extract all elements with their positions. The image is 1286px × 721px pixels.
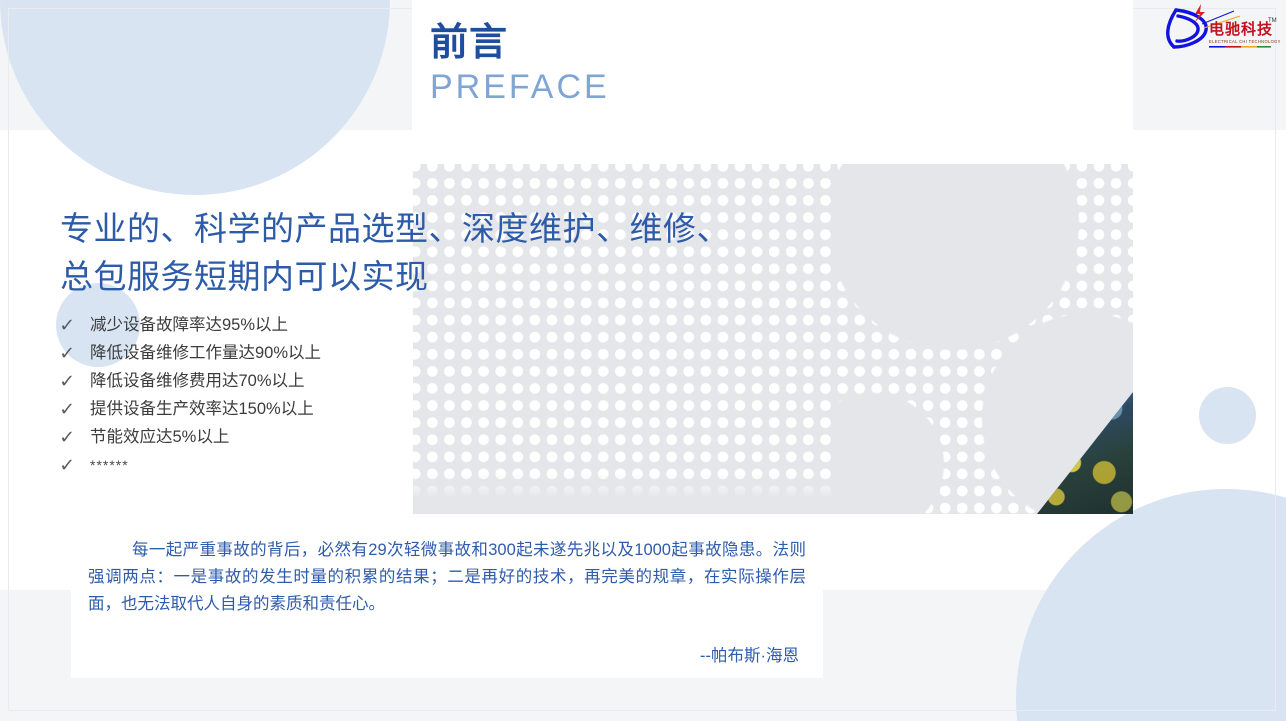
- quote-box: 每一起严重事故的背后，必然有29次轻微事故和300起未遂先兆以及1000起事故隐…: [71, 520, 823, 678]
- list-item: ✓ 降低设备维修费用达70%以上: [60, 367, 480, 395]
- list-item-label: 提供设备生产效率达150%以上: [90, 401, 314, 418]
- list-item: ✓ 降低设备维修工作量达90%以上: [60, 339, 480, 367]
- list-item-label: 减少设备故障率达95%以上: [90, 317, 288, 334]
- world-map-dot-mask-bottom: [413, 474, 873, 514]
- check-icon: ✓: [59, 316, 91, 334]
- check-icon: ✓: [59, 456, 91, 474]
- header-card: 前言 PREFACE: [412, 0, 1133, 143]
- logo-brand-cn: 电驰科技: [1209, 20, 1273, 38]
- list-item: ✓ ******: [60, 451, 480, 479]
- list-item: ✓ 节能效应达5%以上: [60, 423, 480, 451]
- check-icon: ✓: [59, 428, 91, 446]
- logo-graphic: 电驰科技 ELECTRICAL CHI TECHNOLOGY TM: [1160, 2, 1282, 54]
- panel-heading-line-1: 专业的、科学的产品选型、深度维护、维修、: [60, 205, 740, 253]
- list-item-label: ******: [90, 458, 129, 472]
- list-item-label: 节能效应达5%以上: [90, 429, 229, 446]
- list-item-label: 降低设备维修工作量达90%以上: [90, 345, 321, 362]
- list-item: ✓ 减少设备故障率达95%以上: [60, 311, 480, 339]
- panel-heading-line-2: 总包服务短期内可以实现: [60, 253, 740, 301]
- list-item: ✓ 提供设备生产效率达150%以上: [60, 395, 480, 423]
- panel-heading: 专业的、科学的产品选型、深度维护、维修、 总包服务短期内可以实现: [60, 205, 740, 301]
- page-title-en: PREFACE: [430, 70, 610, 104]
- company-logo: 电驰科技 ELECTRICAL CHI TECHNOLOGY TM: [1160, 2, 1282, 54]
- logo-underline: [1209, 46, 1271, 48]
- list-item-label: 降低设备维修费用达70%以上: [90, 373, 305, 390]
- check-icon: ✓: [59, 344, 91, 362]
- page-title-cn: 前言: [430, 24, 508, 62]
- quote-body: 每一起严重事故的背后，必然有29次轻微事故和300起未遂先兆以及1000起事故隐…: [88, 537, 806, 618]
- quote-attribution: --帕布斯·海恩: [700, 642, 799, 666]
- check-icon: ✓: [59, 372, 91, 390]
- logo-brand-en: ELECTRICAL CHI TECHNOLOGY: [1209, 39, 1281, 44]
- check-icon: ✓: [59, 400, 91, 418]
- logo-trademark: TM: [1268, 18, 1277, 24]
- benefits-bullet-list: ✓ 减少设备故障率达95%以上 ✓ 降低设备维修工作量达90%以上 ✓ 降低设备…: [60, 311, 480, 479]
